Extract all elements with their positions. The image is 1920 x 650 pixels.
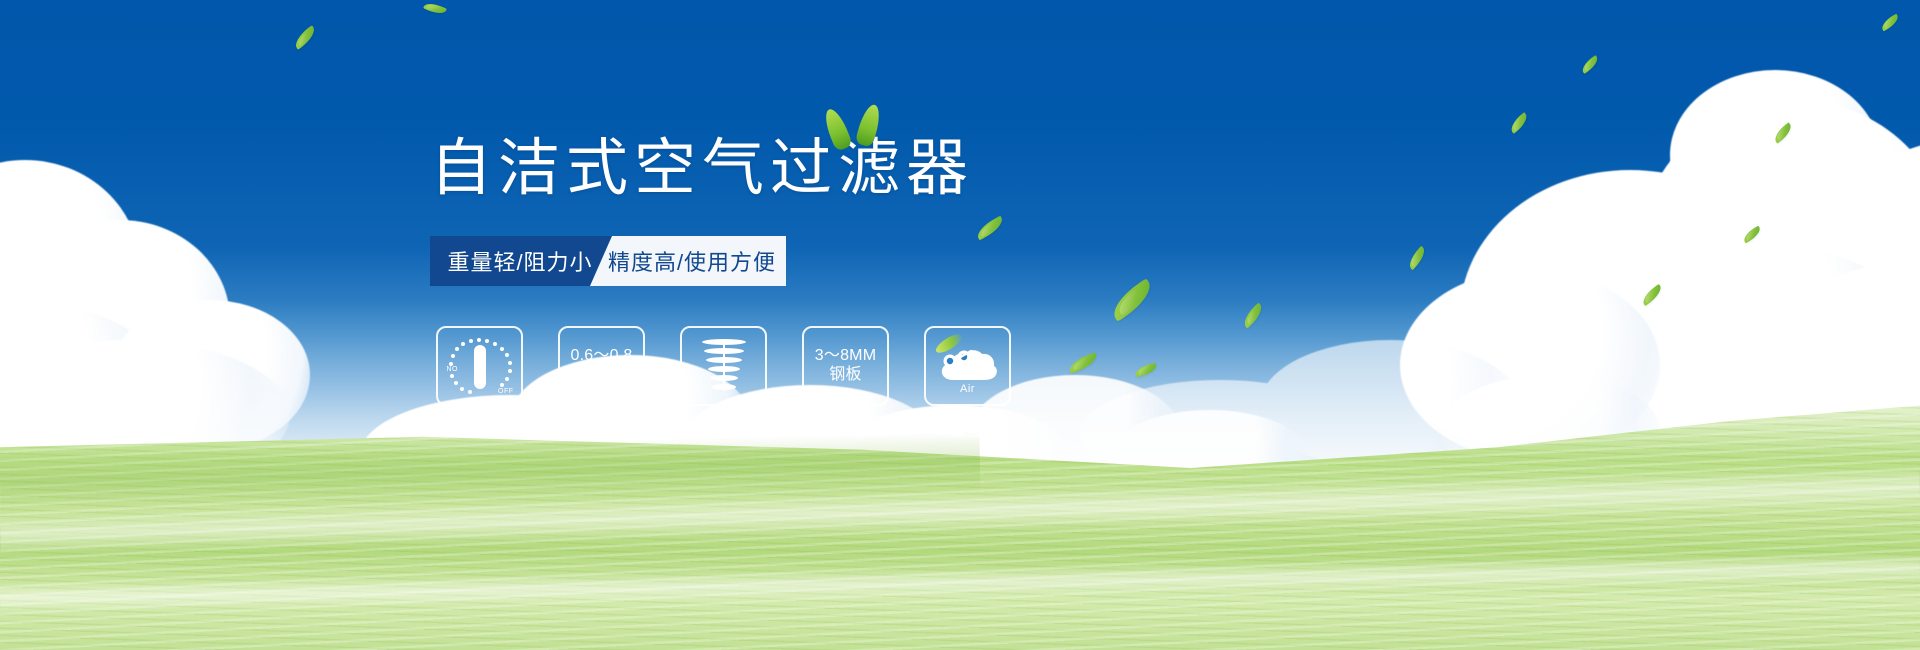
- feature-icon-list: NO OFF 控制仪 0.6～0.8 MPA 二级过滤: [436, 326, 1011, 441]
- air-cloud-icon: Air: [937, 340, 999, 392]
- feature-icon-box: Air: [924, 326, 1011, 406]
- filter-stack-icon: [699, 337, 749, 395]
- steel-thickness: 3～8MM: [815, 347, 876, 364]
- title-sprout-leaves-icon: [826, 104, 886, 150]
- feature-label: 集尘: [950, 416, 985, 441]
- gauge-label-on: NO: [447, 366, 459, 373]
- pressure-value: 0.6～0.8: [571, 347, 633, 364]
- cloud-glyph: [937, 344, 999, 382]
- air-label: Air: [937, 383, 999, 395]
- tag-secondary: 精度高/使用方便: [590, 236, 786, 286]
- feature-item-pressure: 0.6～0.8 MPA 二级过滤: [558, 326, 645, 441]
- feature-icon-box: 0.6～0.8 MPA: [558, 326, 645, 406]
- feature-item-controller: NO OFF 控制仪: [436, 326, 523, 441]
- feature-label: 二级过滤: [567, 416, 637, 441]
- feature-icon-box: NO OFF: [436, 326, 523, 406]
- banner-content: 自洁式空气过滤器 重量轻/阻力小 精度高/使用方便: [0, 0, 1920, 650]
- steel-material: 钢板: [815, 366, 876, 385]
- tagline-group: 重量轻/阻力小 精度高/使用方便: [430, 236, 786, 286]
- steel-plate-icon: 3～8MM 钢板: [815, 347, 876, 385]
- feature-label: 控制仪: [453, 416, 506, 441]
- gauge-icon: NO OFF: [447, 336, 513, 396]
- hero-banner: 自洁式空气过滤器 重量轻/阻力小 精度高/使用方便: [0, 0, 1920, 650]
- pressure-unit: MPA: [571, 366, 633, 385]
- tag-primary: 重量轻/阻力小: [430, 236, 612, 286]
- page-title: 自洁式空气过滤器: [430, 138, 974, 200]
- feature-label: 强力反吹: [689, 416, 759, 441]
- feature-label: 钢结构强度: [802, 416, 890, 441]
- gauge-label-off: OFF: [498, 388, 514, 395]
- feature-item-backblow: 强力反吹: [680, 326, 767, 441]
- feature-item-dust: Air 集尘: [924, 326, 1011, 441]
- feature-icon-box: [680, 326, 767, 406]
- feature-icon-box: 3～8MM 钢板: [802, 326, 889, 406]
- pressure-icon: 0.6～0.8 MPA: [571, 347, 633, 385]
- feature-item-steel: 3～8MM 钢板 钢结构强度: [802, 326, 889, 441]
